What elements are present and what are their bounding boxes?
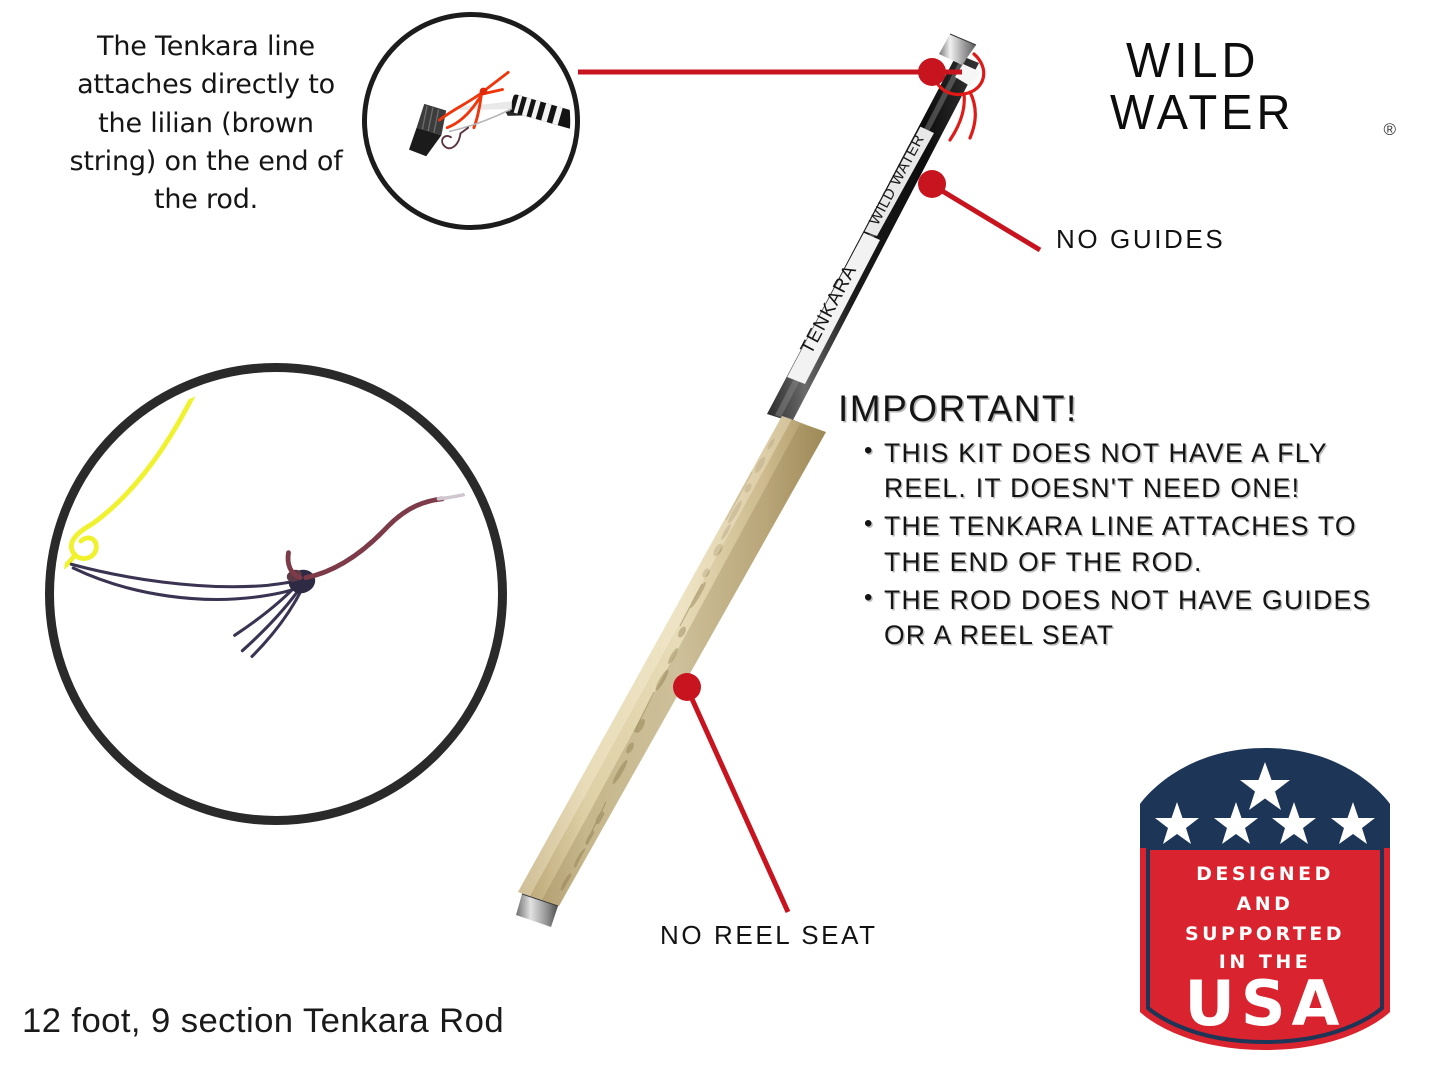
- important-bullet-1: THIS KIT DOES NOT HAVE A FLY REEL. IT DO…: [864, 436, 1410, 506]
- leader-line-no-guides: [934, 186, 1040, 250]
- designed-in-usa-badge: DESIGNED AND SUPPORTED IN THE USA: [1126, 740, 1404, 1058]
- callout-dot-no-reel-seat: [673, 673, 701, 701]
- badge-line-supported: SUPPORTED: [1185, 923, 1345, 945]
- callout-dot-no-guides: [918, 170, 946, 198]
- badge-line-and: AND: [1237, 893, 1294, 915]
- callout-label-no-reel-seat: NO REEL SEAT: [660, 920, 878, 951]
- important-title: IMPORTANT!: [838, 388, 1410, 430]
- important-bullet-2: THE TENKARA LINE ATTACHES TO THE END OF …: [864, 509, 1410, 579]
- important-notice-block: IMPORTANT! THIS KIT DOES NOT HAVE A FLY …: [838, 388, 1410, 656]
- important-bullet-3: THE ROD DOES NOT HAVE GUIDES OR A REEL S…: [864, 583, 1410, 653]
- badge-line-designed: DESIGNED: [1196, 863, 1334, 885]
- leader-line-no-reel-seat: [688, 690, 788, 912]
- product-caption: 12 foot, 9 section Tenkara Rod: [22, 1002, 504, 1041]
- important-bullet-list: THIS KIT DOES NOT HAVE A FLY REEL. IT DO…: [838, 436, 1410, 653]
- badge-line-usa: USA: [1185, 967, 1346, 1040]
- infographic-canvas: The Tenkara line attaches directly to th…: [0, 0, 1445, 1084]
- callout-dot-tip: [918, 58, 946, 86]
- callout-label-no-guides: NO GUIDES: [1056, 224, 1225, 255]
